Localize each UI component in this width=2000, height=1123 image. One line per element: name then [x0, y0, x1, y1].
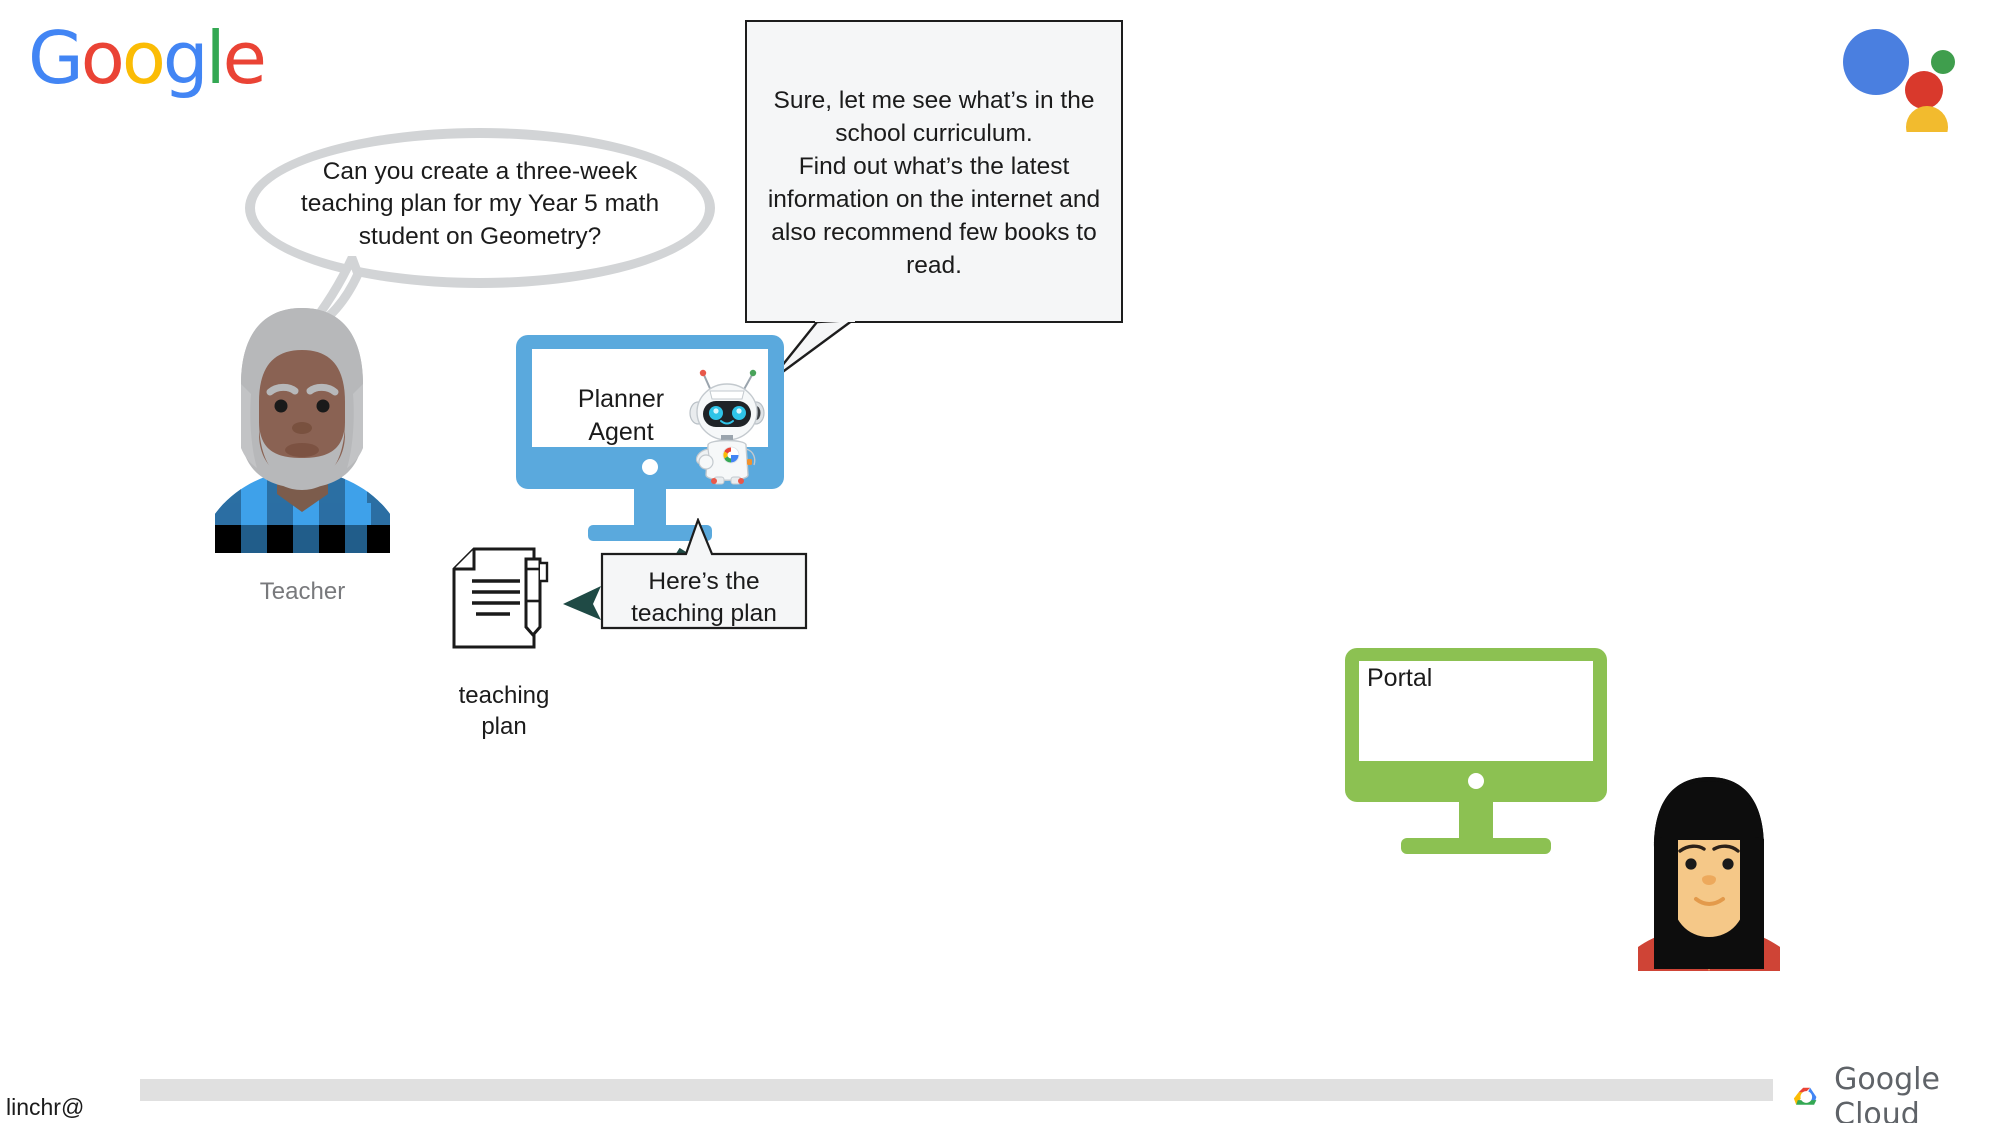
google-letter-g1: G: [28, 22, 81, 94]
assistant-green-dot: [1931, 50, 1955, 74]
plan-delivery-callout: Here’s the teaching plan: [600, 518, 808, 630]
google-letter-l: l: [206, 22, 223, 94]
teacher-avatar: [215, 298, 390, 553]
teacher-bubble-text: Can you create a three-week teaching pla…: [245, 156, 715, 253]
google-letter-g2: g: [163, 22, 206, 94]
student-avatar: [1638, 775, 1780, 971]
planner-agent-screen-label: Planner Agent: [556, 383, 686, 448]
footer-username: linchr@: [6, 1094, 84, 1121]
google-cloud-mark-icon: [1790, 1079, 1824, 1115]
plan-callout-text: Here’s the teaching plan: [600, 566, 808, 631]
teacher-eye-right: [317, 400, 330, 413]
robot-avatar-icon: [684, 363, 770, 485]
portal-monitor: Portal: [1345, 648, 1607, 873]
portal-screen-label: Portal: [1367, 664, 1432, 693]
teaching-plan-label: teaching plan: [420, 680, 588, 742]
assistant-red-dot: [1905, 71, 1943, 109]
assistant-blue-dot: [1843, 29, 1909, 95]
google-cloud-wordmark: Google Cloud: [1834, 1062, 1990, 1123]
google-letter-o1: o: [81, 22, 122, 94]
agent-bubble-text: Sure, let me see what’s in the school cu…: [745, 84, 1123, 282]
google-letter-o2: o: [122, 22, 163, 94]
teaching-plan-document-icon: [448, 545, 560, 655]
student-eye-right: [1722, 858, 1733, 869]
teacher-speech-bubble: Can you create a three-week teaching pla…: [245, 128, 715, 288]
assistant-yellow-dot: [1906, 106, 1948, 132]
teacher-label: Teacher: [215, 578, 390, 606]
student-eye-left: [1685, 858, 1696, 869]
slide-canvas: Google Can you create a three-week teach…: [0, 0, 2000, 1123]
footer-progress-bar: [140, 1079, 1773, 1101]
agent-speech-bubble: Sure, let me see what’s in the school cu…: [745, 20, 1123, 323]
google-assistant-logo: [1838, 22, 1978, 132]
teacher-mouth: [285, 443, 319, 457]
google-cloud-logo: Google Cloud: [1790, 1078, 1990, 1116]
google-wordmark: Google: [28, 22, 264, 94]
teacher-nose: [292, 422, 312, 434]
google-letter-e: e: [223, 22, 264, 94]
teacher-eye-left: [275, 400, 288, 413]
